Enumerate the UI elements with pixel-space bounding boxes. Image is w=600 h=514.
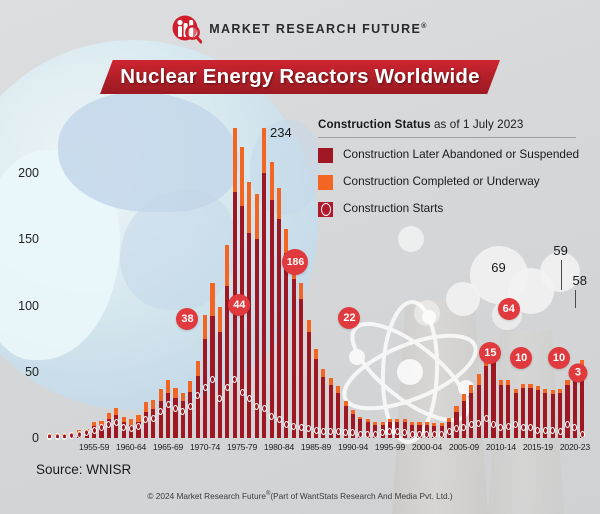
chart-bar[interactable] xyxy=(299,283,303,438)
value-bubble: 186 xyxy=(282,249,308,275)
chart-bar[interactable] xyxy=(514,389,518,438)
bar-segment-completed xyxy=(218,307,222,332)
chart-bar[interactable] xyxy=(218,307,222,438)
bar-segment-abandoned xyxy=(565,385,569,438)
construction-start-marker-icon xyxy=(247,395,252,402)
bar-segment-abandoned xyxy=(292,279,296,438)
bar-segment-completed xyxy=(262,128,266,173)
construction-start-marker-icon xyxy=(365,431,370,438)
brand-logo: MARKET RESEARCH FUTURE® xyxy=(0,14,600,44)
bar-segment-completed xyxy=(255,194,259,239)
chart-bar[interactable] xyxy=(277,188,281,438)
bar-segment-abandoned xyxy=(284,253,288,439)
chart-bar[interactable] xyxy=(477,374,481,438)
logo-wordmark-text: MARKET RESEARCH FUTURE xyxy=(209,22,421,36)
chart-annotation: 234 xyxy=(270,125,292,140)
construction-start-marker-icon xyxy=(188,403,193,410)
bar-segment-abandoned xyxy=(484,366,488,438)
chart-bar[interactable] xyxy=(225,245,229,438)
value-bubble: 64 xyxy=(498,298,520,320)
bar-segment-abandoned xyxy=(151,409,155,438)
y-axis-tick-label: 50 xyxy=(25,365,39,379)
bar-segment-completed xyxy=(373,422,377,425)
bar-segment-completed xyxy=(454,406,458,411)
bar-segment-completed xyxy=(403,419,407,422)
bar-segment-completed xyxy=(114,408,118,416)
bar-segment-abandoned xyxy=(299,299,303,438)
construction-start-marker-icon xyxy=(580,431,585,438)
construction-start-marker-icon xyxy=(528,424,533,431)
construction-start-marker-icon xyxy=(521,424,526,431)
bar-segment-completed xyxy=(247,182,251,232)
bar-segment-completed xyxy=(129,419,133,424)
chart-bar[interactable] xyxy=(292,260,296,438)
construction-start-marker-icon xyxy=(484,415,489,422)
bar-segment-completed xyxy=(417,422,421,425)
construction-start-marker-icon xyxy=(469,421,474,428)
bar-segment-completed xyxy=(351,410,355,414)
bar-segment-completed xyxy=(447,418,451,422)
bar-segment-completed xyxy=(277,188,281,220)
value-bubble: 10 xyxy=(548,347,570,369)
x-axis-tick-label: 1955-59 xyxy=(79,442,109,452)
value-bubble: 22 xyxy=(338,307,360,329)
bar-segment-completed xyxy=(395,419,399,422)
bar-segment-completed xyxy=(551,390,555,394)
construction-start-marker-icon xyxy=(432,431,437,438)
bar-segment-completed xyxy=(122,417,126,422)
bar-segment-completed xyxy=(188,381,192,392)
construction-start-marker-icon xyxy=(136,423,141,430)
construction-start-marker-icon xyxy=(410,431,415,438)
construction-start-marker-icon xyxy=(277,416,282,423)
bar-segment-completed xyxy=(225,245,229,286)
bar-segment-abandoned xyxy=(181,401,185,438)
construction-start-marker-icon xyxy=(321,428,326,435)
construction-start-marker-icon xyxy=(262,405,267,412)
construction-start-marker-icon xyxy=(55,433,60,440)
bar-segment-completed xyxy=(107,413,111,420)
x-axis-tick-label: 2020-23 xyxy=(560,442,590,452)
bar-segment-completed xyxy=(92,422,96,426)
bar-segment-abandoned xyxy=(218,332,222,438)
bar-segment-completed xyxy=(336,386,340,393)
x-axis-tick-label: 2005-09 xyxy=(449,442,479,452)
bar-segment-abandoned xyxy=(469,393,473,438)
x-axis-tick-label: 1970-74 xyxy=(190,442,220,452)
value-bubble: 10 xyxy=(510,347,532,369)
chart-bar[interactable] xyxy=(462,394,466,438)
bar-segment-completed xyxy=(425,422,429,425)
bar-segment-completed xyxy=(366,419,370,422)
bar-segment-completed xyxy=(388,419,392,422)
bar-segment-completed xyxy=(506,380,510,385)
logo-wordmark: MARKET RESEARCH FUTURE® xyxy=(209,22,428,36)
bar-segment-completed xyxy=(329,378,333,385)
chart-bar[interactable] xyxy=(255,194,259,438)
bar-segment-completed xyxy=(536,386,540,390)
bar-segment-completed xyxy=(358,417,362,420)
value-bubble: 44 xyxy=(228,294,250,316)
bar-segment-completed xyxy=(432,423,436,426)
bar-segment-completed xyxy=(240,147,244,207)
x-axis-tick-label: 1995-99 xyxy=(375,442,405,452)
bar-segment-completed xyxy=(307,320,311,332)
construction-start-marker-icon xyxy=(47,433,52,440)
bar-segment-abandoned xyxy=(196,376,200,438)
bar-segment-abandoned xyxy=(262,173,266,438)
bar-segment-completed xyxy=(528,384,532,388)
bar-segment-abandoned xyxy=(580,374,584,438)
chart-bar[interactable] xyxy=(233,128,237,438)
bar-segment-completed xyxy=(284,229,288,253)
bar-segment-completed xyxy=(477,374,481,385)
chart-bar[interactable] xyxy=(469,385,473,438)
construction-start-marker-icon xyxy=(358,431,363,438)
bar-segment-completed xyxy=(196,361,200,376)
construction-start-marker-icon xyxy=(151,415,156,422)
copyright-prefix: © 2024 Market Research Future xyxy=(147,491,266,501)
market-research-future-logo-icon xyxy=(172,14,202,44)
bar-segment-abandoned xyxy=(277,219,281,438)
construction-start-marker-icon xyxy=(543,427,548,434)
chart-bar[interactable] xyxy=(565,380,569,438)
bar-segment-completed xyxy=(558,389,562,393)
source-note: Source: WNISR xyxy=(36,462,131,477)
bar-segment-completed xyxy=(499,380,503,385)
bar-segment-completed xyxy=(410,422,414,425)
construction-start-marker-icon xyxy=(114,419,119,426)
value-bubble: 3 xyxy=(568,363,587,382)
y-axis-tick-label: 0 xyxy=(32,431,39,445)
bar-segment-completed xyxy=(159,389,163,401)
x-axis-tick-label: 1960-64 xyxy=(116,442,146,452)
bar-segment-completed xyxy=(173,388,177,399)
infographic-canvas: MARKET RESEARCH FUTURE® Nuclear Energy R… xyxy=(0,0,600,514)
x-axis-tick-label: 1990-94 xyxy=(338,442,368,452)
construction-start-marker-icon xyxy=(336,428,341,435)
bar-segment-abandoned xyxy=(307,332,311,438)
bar-segment-completed xyxy=(233,128,237,192)
bar-segment-completed xyxy=(321,369,325,377)
bar-segment-completed xyxy=(203,315,207,339)
bar-segment-completed xyxy=(381,422,385,425)
construction-start-marker-icon xyxy=(225,384,230,391)
copyright-note: © 2024 Market Research Future®(Part of W… xyxy=(0,491,600,501)
bar-segment-completed xyxy=(299,283,303,299)
copyright-suffix: (Part of WantStats Research And Media Pv… xyxy=(270,491,452,501)
x-axis-tick-label: 1965-69 xyxy=(153,442,183,452)
chart-bar[interactable] xyxy=(454,406,458,438)
chart-bar[interactable] xyxy=(262,128,266,438)
bar-segment-completed xyxy=(344,401,348,406)
chart-area: 0501001502001955-591960-641965-691970-74… xyxy=(0,110,600,450)
construction-start-marker-icon xyxy=(417,431,422,438)
x-axis-tick-label: 2015-19 xyxy=(523,442,553,452)
bar-segment-completed xyxy=(543,389,547,393)
chart-annotation: 59 xyxy=(553,243,567,258)
chart-plot: 0501001502001955-591960-641965-691970-74… xyxy=(46,120,586,438)
chart-bar[interactable] xyxy=(270,162,274,438)
bar-segment-completed xyxy=(440,423,444,426)
x-axis-tick-label: 1975-79 xyxy=(227,442,257,452)
registered-trademark-icon: ® xyxy=(421,23,428,30)
y-axis-tick-label: 100 xyxy=(18,299,39,313)
bar-segment-completed xyxy=(144,402,148,411)
chart-bar[interactable] xyxy=(307,320,311,438)
chart-bar[interactable] xyxy=(210,283,214,438)
bar-segment-abandoned xyxy=(240,206,244,438)
construction-start-marker-icon xyxy=(129,425,134,432)
y-axis-tick-label: 200 xyxy=(18,166,39,180)
bar-segment-completed xyxy=(565,380,569,385)
construction-start-marker-icon xyxy=(373,431,378,438)
x-axis-tick-label: 2010-14 xyxy=(486,442,516,452)
construction-start-marker-icon xyxy=(240,389,245,396)
x-axis-tick-label: 1980-84 xyxy=(264,442,294,452)
bar-segment-completed xyxy=(469,385,473,393)
chart-bar[interactable] xyxy=(173,388,177,438)
construction-start-marker-icon xyxy=(506,423,511,430)
construction-start-marker-icon xyxy=(314,427,319,434)
bar-segment-completed xyxy=(314,349,318,358)
construction-start-marker-icon xyxy=(203,384,208,391)
bar-segment-abandoned xyxy=(477,385,481,438)
bar-segment-completed xyxy=(166,380,170,393)
construction-start-marker-icon xyxy=(166,401,171,408)
construction-start-marker-icon xyxy=(550,427,555,434)
chart-bar[interactable] xyxy=(203,315,207,438)
annotation-leader-line xyxy=(561,260,562,290)
bar-segment-abandoned xyxy=(166,393,170,438)
title-banner: Nuclear Energy Reactors Worldwide xyxy=(100,60,500,94)
construction-start-marker-icon xyxy=(299,424,304,431)
bar-segment-abandoned xyxy=(188,392,192,438)
bar-segment-abandoned xyxy=(247,233,251,438)
construction-start-marker-icon xyxy=(99,424,104,431)
chart-annotation: 69 xyxy=(491,260,505,275)
chart-bar[interactable] xyxy=(181,393,185,438)
value-bubble: 15 xyxy=(479,342,501,364)
bar-segment-abandoned xyxy=(159,401,163,438)
bar-segment-abandoned xyxy=(270,200,274,439)
chart-bar[interactable] xyxy=(166,380,170,438)
construction-start-marker-icon xyxy=(92,427,97,434)
x-axis-tick-label: 2000-04 xyxy=(412,442,442,452)
bar-segment-abandoned xyxy=(462,401,466,438)
bar-segment-completed xyxy=(514,389,518,393)
chart-bar[interactable] xyxy=(196,361,200,438)
construction-start-marker-icon xyxy=(439,431,444,438)
construction-start-marker-icon xyxy=(447,428,452,435)
bar-segment-abandoned xyxy=(173,398,177,438)
bar-segment-completed xyxy=(136,415,140,422)
bar-segment-abandoned xyxy=(506,385,510,438)
x-axis-tick-label: 1985-89 xyxy=(301,442,331,452)
chart-bar[interactable] xyxy=(484,353,488,438)
construction-start-marker-icon xyxy=(558,428,563,435)
bar-segment-completed xyxy=(151,400,155,409)
bar-segment-abandoned xyxy=(514,393,518,438)
bar-segment-completed xyxy=(181,393,185,401)
page-title: Nuclear Energy Reactors Worldwide xyxy=(120,65,479,89)
construction-start-marker-icon xyxy=(395,428,400,435)
chart-bar[interactable] xyxy=(314,349,318,438)
construction-start-marker-icon xyxy=(62,433,67,440)
construction-start-marker-icon xyxy=(77,431,82,438)
bar-segment-completed xyxy=(270,162,274,199)
construction-start-marker-icon xyxy=(291,423,296,430)
bar-segment-completed xyxy=(210,283,214,316)
bar-segment-completed xyxy=(521,384,525,388)
annotation-leader-line xyxy=(575,290,576,308)
bar-segment-completed xyxy=(462,394,466,401)
value-bubble: 38 xyxy=(176,308,198,330)
y-axis-tick-label: 150 xyxy=(18,232,39,246)
chart-annotation: 58 xyxy=(573,273,587,288)
